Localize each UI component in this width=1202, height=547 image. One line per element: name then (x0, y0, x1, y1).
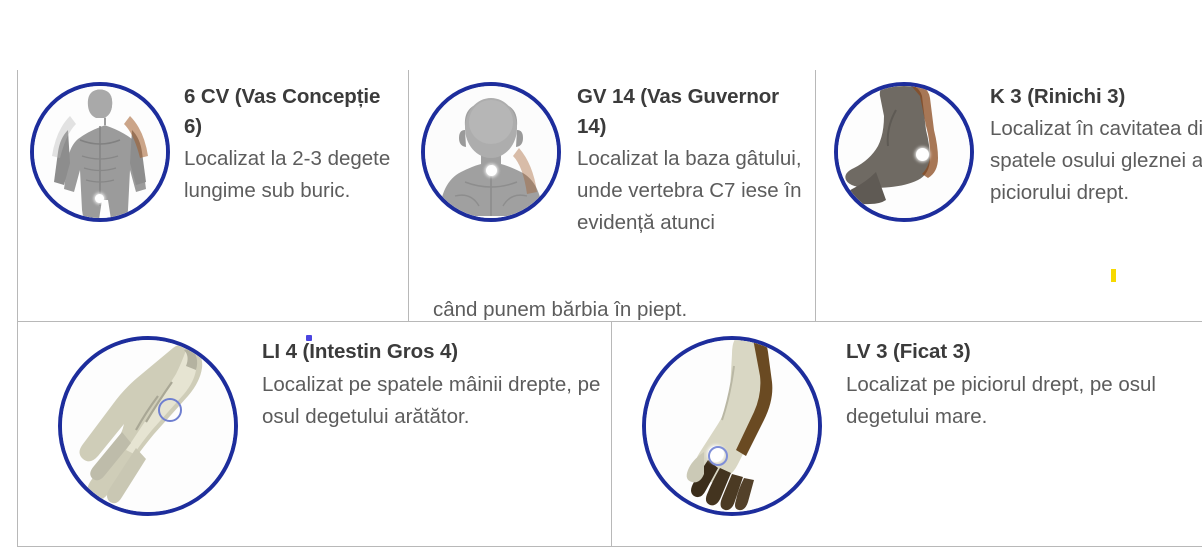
acupoint-thumbnail-gv14 (421, 82, 561, 222)
acupoint-thumbnail-k3 (834, 82, 974, 222)
acupoint-marker-k3 (916, 148, 929, 161)
acupoint-title: LI 4 (Intestin Gros 4) (262, 336, 601, 368)
acupoint-description: Localizat la baza gâtului, unde vertebra… (577, 143, 805, 239)
foot-top-svg (646, 340, 818, 512)
foot-top-illustration (642, 336, 822, 516)
acupoint-cell-li4[interactable]: LI 4 (Intestin Gros 4) Localizat pe spat… (17, 322, 611, 546)
acupoint-thumbnail-lv3 (642, 336, 822, 516)
acupoint-marker-lv3-ring (708, 446, 728, 466)
acupoint-thumbnail-li4 (58, 336, 238, 516)
acupoint-cell-gv14[interactable]: GV 14 (Vas Guvernor 14) Localizat la baz… (408, 70, 815, 321)
acupoint-marker-li4 (158, 398, 182, 422)
acupoint-description: Localizat pe spatele mâinii drepte, pe o… (262, 369, 601, 433)
acupoint-title: K 3 (Rinichi 3) (990, 82, 1202, 112)
acupoint-cell-cv6[interactable]: 6 CV (Vas Concepție 6) Localizat la 2-3 … (17, 70, 408, 321)
acupoint-description: Localizat pe piciorul drept, pe osul deg… (846, 369, 1202, 433)
head-neck-back-illustration (421, 82, 561, 222)
table-row: LI 4 (Intestin Gros 4) Localizat pe spat… (17, 321, 1202, 547)
acupoint-title: 6 CV (Vas Concepție 6) (184, 82, 398, 142)
table-row: 6 CV (Vas Concepție 6) Localizat la 2-3 … (17, 70, 1202, 321)
acupoint-marker-cv6 (95, 194, 104, 203)
acupoint-description: Localizat la 2-3 degete lungime sub buri… (184, 143, 398, 207)
acupoint-marker-gv14 (486, 165, 497, 176)
hand-back-svg (62, 340, 234, 512)
acupoint-title: LV 3 (Ficat 3) (846, 336, 1202, 368)
ankle-side-svg (838, 86, 970, 218)
torso-front-illustration (30, 82, 170, 222)
acupoint-thumbnail-cv6 (30, 82, 170, 222)
hand-back-illustration (58, 336, 238, 516)
acupoint-table: 6 CV (Vas Concepție 6) Localizat la 2-3 … (17, 70, 1202, 547)
acupoint-description: Localizat în cavitatea din spatele osulu… (990, 113, 1202, 209)
acupoint-cell-k3[interactable]: K 3 (Rinichi 3) Localizat în cavitatea d… (815, 70, 1202, 321)
acupoint-cell-lv3[interactable]: LV 3 (Ficat 3) Localizat pe piciorul dre… (611, 322, 1202, 546)
acupoint-title: GV 14 (Vas Guvernor 14) (577, 82, 805, 142)
ankle-side-illustration (834, 82, 974, 222)
head-neck-back-svg (425, 86, 557, 218)
